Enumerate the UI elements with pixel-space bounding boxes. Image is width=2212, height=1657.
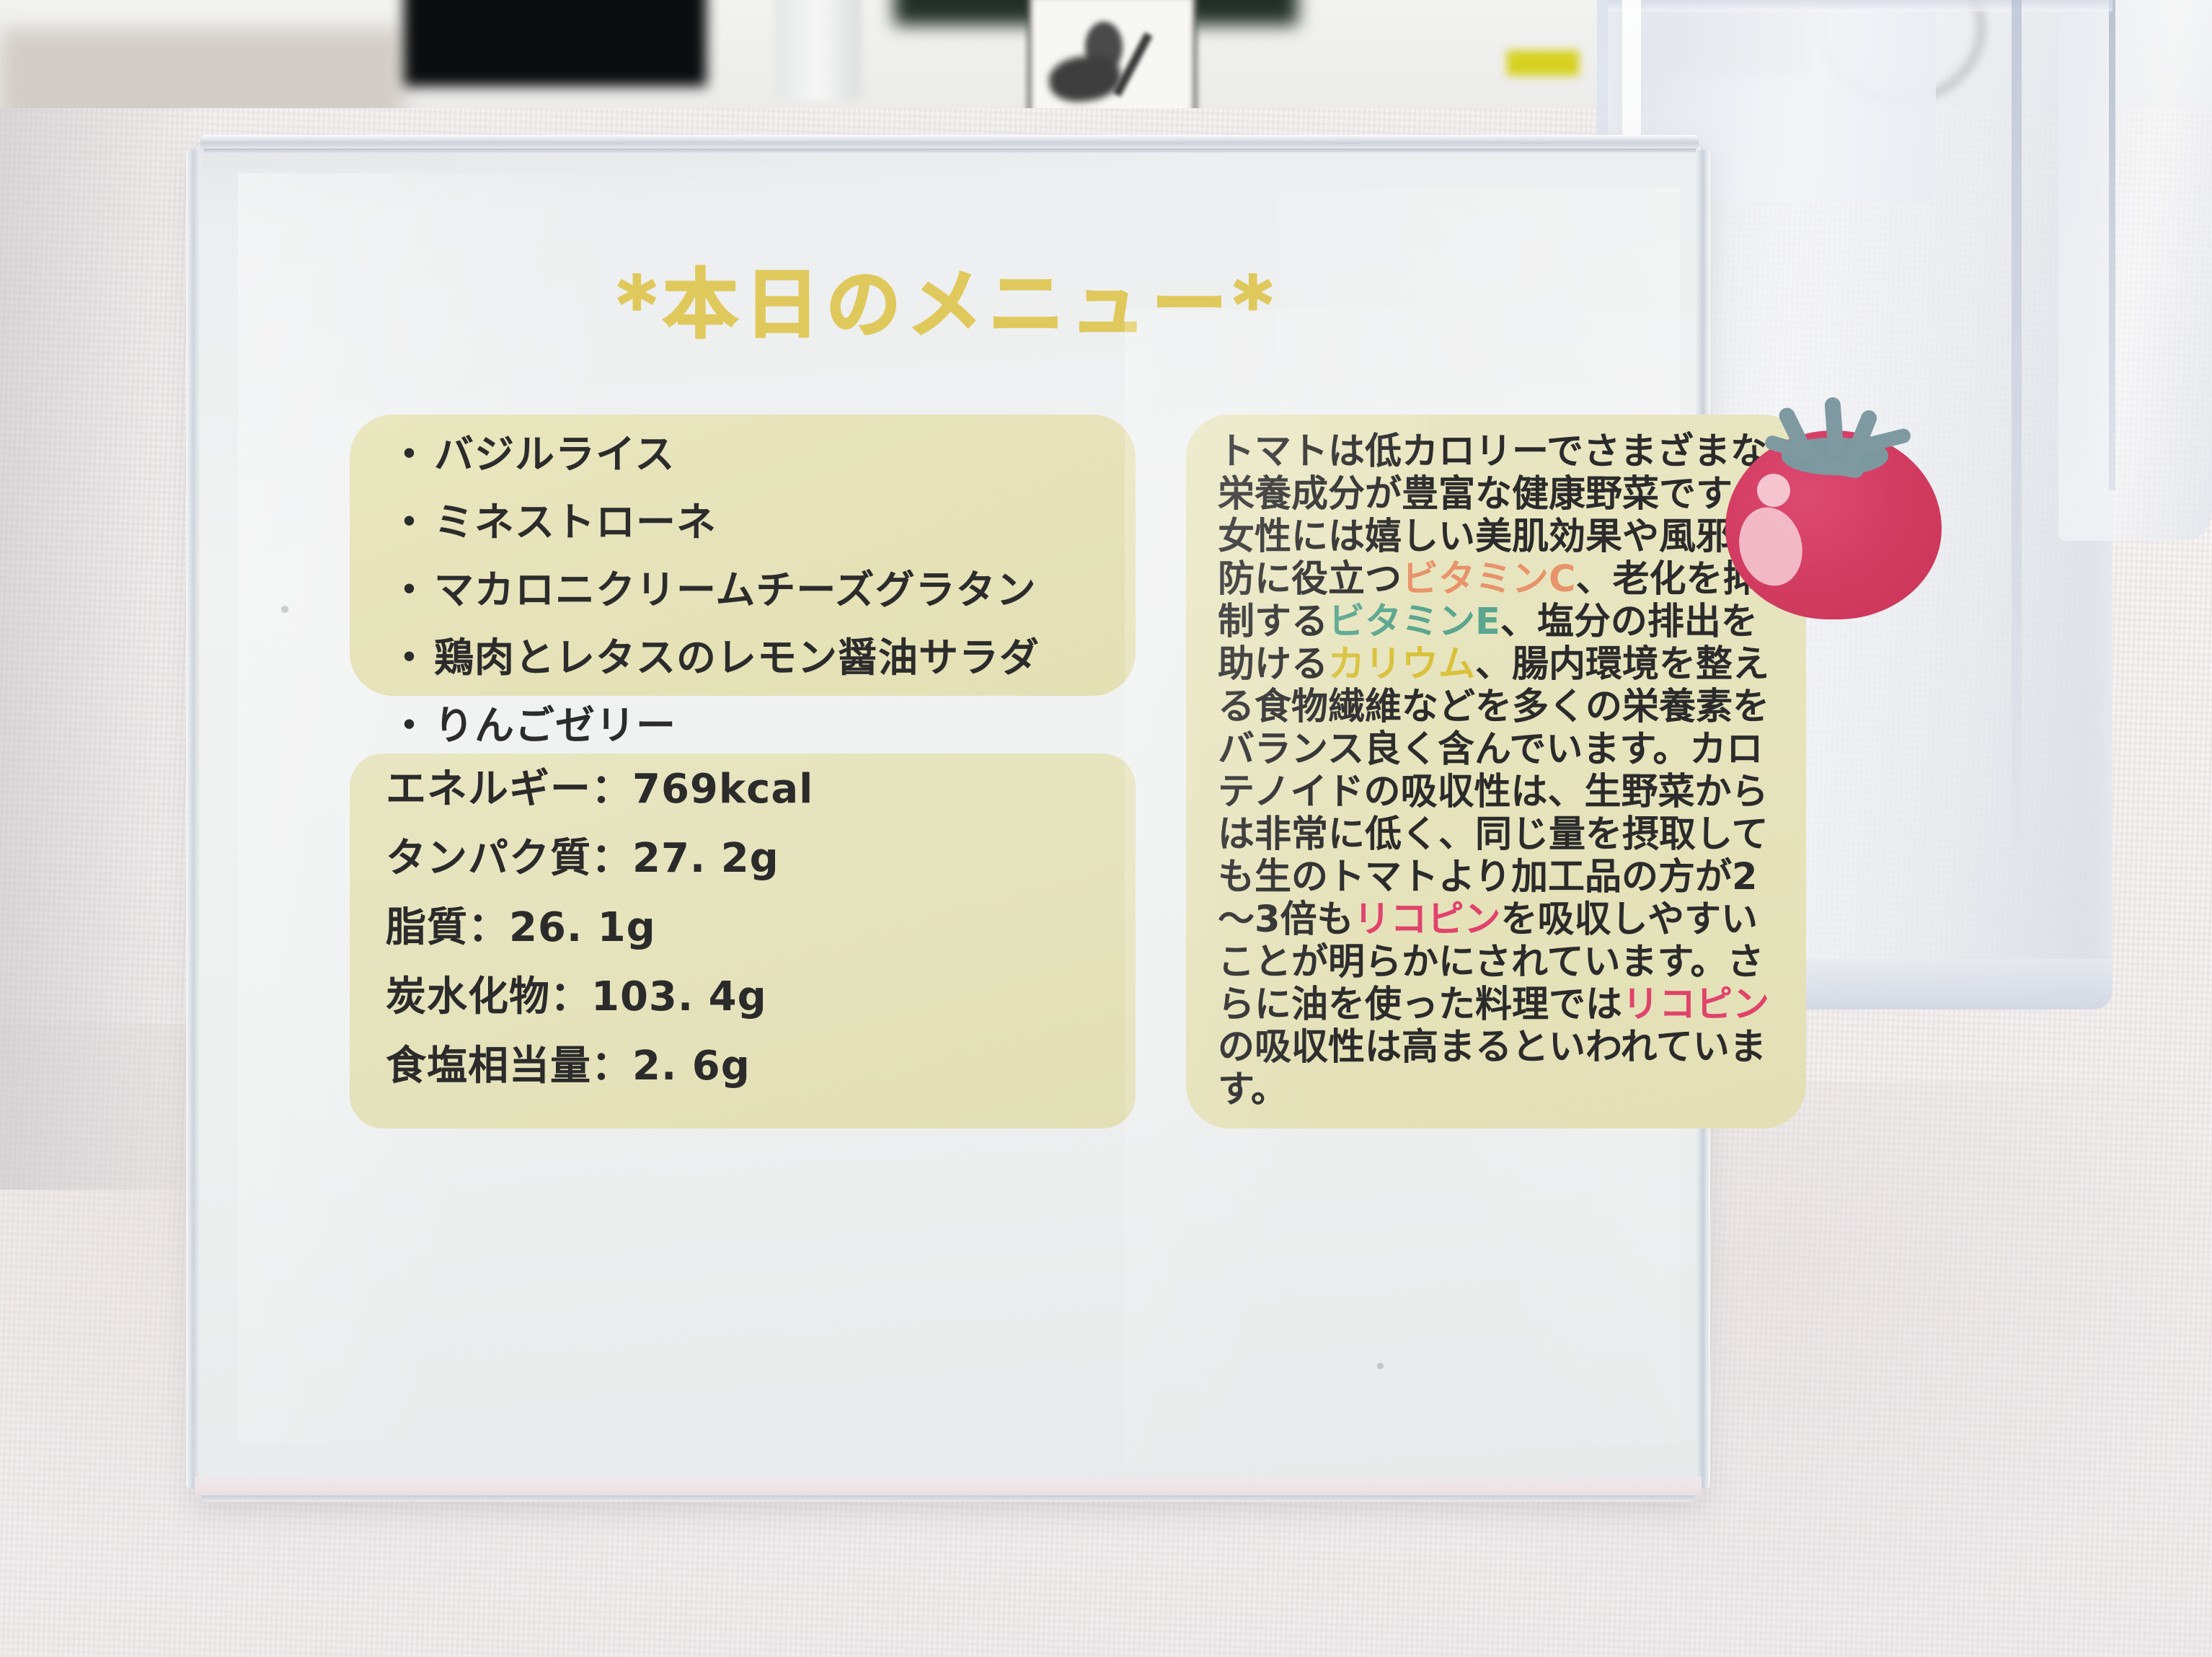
menu-bullet: ・ <box>389 635 430 681</box>
sign-bottom-edge-line <box>202 1495 1694 1502</box>
menu-item-label: バジルライス <box>434 431 675 477</box>
menu-item-label: 鶏肉とレタスのレモン醤油サラダ <box>434 635 1040 681</box>
menu-bullet: ・ <box>389 567 430 613</box>
nutrition-panel: エネルギー：769kcal タンパク質：27. 2g 脂質：26. 1g 炭水化… <box>350 754 1136 1128</box>
nutrition-row: エネルギー：769kcal <box>386 769 1121 810</box>
menu-panel: ・バジルライス ・ミネストローネ ・マカロニクリームチーズグラタン ・鶏肉とレタ… <box>350 415 1136 696</box>
background-bottle <box>775 0 862 101</box>
menu-item-label: マカロニクリームチーズグラタン <box>434 567 1037 613</box>
page-title: *本日のメニュー* <box>195 267 1702 342</box>
menu-item-label: ミネストローネ <box>434 499 717 545</box>
background-yellow-tag <box>1507 50 1579 76</box>
sign-speck <box>281 606 288 613</box>
pitcher-spout <box>2058 0 2212 541</box>
menu-item: ・ミネストローネ <box>389 503 1118 542</box>
nutrition-row: 食塩相当量：2. 6g <box>386 1046 1121 1087</box>
sign-left-edge <box>186 150 200 1488</box>
pitcher-rim <box>1608 0 2113 12</box>
tomato-icon <box>1712 393 1957 624</box>
sign-top-edge-line <box>203 149 1696 154</box>
tomato-leaf <box>1824 397 1844 456</box>
nutrition-list: エネルギー：769kcal タンパク質：27. 2g 脂質：26. 1g 炭水化… <box>386 769 1121 1115</box>
menu-bullet: ・ <box>389 702 430 748</box>
menu-bullet: ・ <box>389 431 430 477</box>
photo-scene: *本日のメニュー* ・バジルライス ・ミネストローネ ・マカロニクリームチーズグ… <box>0 0 2212 1657</box>
background-dark-object <box>404 0 707 87</box>
acrylic-sign-stand: *本日のメニュー* ・バジルライス ・ミネストローネ ・マカロニクリームチーズグ… <box>195 144 1702 1493</box>
nutrition-row: タンパク質：27. 2g <box>386 839 1121 879</box>
menu-item: ・マカロニクリームチーズグラタン <box>389 570 1118 610</box>
tomato-highlight-small <box>1757 474 1790 507</box>
nutrition-row: 炭水化物：103. 4g <box>386 977 1121 1017</box>
menu-bullet: ・ <box>389 499 430 545</box>
menu-list: ・バジルライス ・ミネストローネ ・マカロニクリームチーズグラタン ・鶏肉とレタ… <box>389 435 1118 774</box>
pitcher-highlight-right <box>2012 0 2022 851</box>
menu-item: ・りんごゼリー <box>389 706 1118 746</box>
menu-item-label: りんごゼリー <box>434 702 676 748</box>
nutrition-row: 脂質：26. 1g <box>386 908 1121 948</box>
tablecloth-shadow <box>0 108 216 1190</box>
sign-glass-glare <box>1125 310 1428 1464</box>
menu-item: ・バジルライス <box>389 435 1118 474</box>
pitcher-edge <box>2109 0 2115 490</box>
menu-item: ・鶏肉とレタスのレモン醤油サラダ <box>389 638 1118 678</box>
desc-highlight-vitamin-c: ビタミンC <box>1402 558 1575 601</box>
desc-highlight-lycopene: リコピン <box>1622 984 1769 1026</box>
